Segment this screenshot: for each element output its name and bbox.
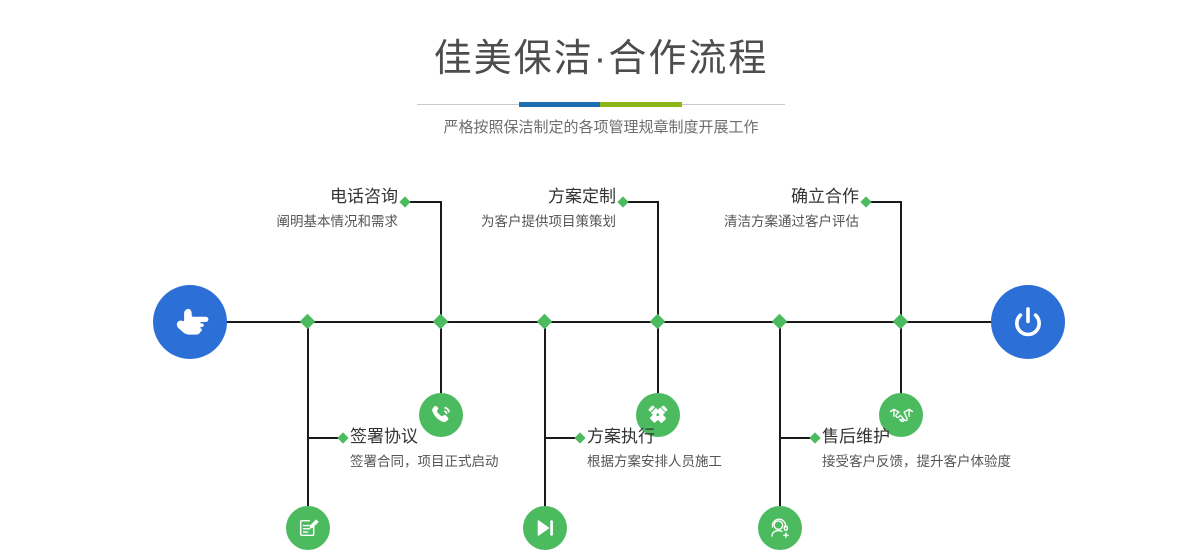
- step-desc-2: 签署合同，项目正式启动: [350, 455, 610, 469]
- end-node: [991, 285, 1065, 359]
- page-subtitle: 严格按照保洁制定的各项管理规章制度开展工作: [0, 120, 1202, 135]
- step-icon-6: [758, 506, 802, 550]
- play-forward-icon: [532, 515, 558, 541]
- step-icon-2: [286, 506, 330, 550]
- step-label-4: 方案执行 根据方案安排人员施工: [587, 428, 837, 469]
- step-title-5: 确立合作: [595, 188, 859, 205]
- stem-5: [900, 321, 902, 394]
- leader-marker-5: [860, 196, 871, 207]
- page-header: 佳美保洁·合作流程 严格按照保洁制定的各项管理规章制度开展工作: [0, 0, 1202, 135]
- leader-stem-5: [900, 201, 902, 322]
- pointing-hand-icon: [169, 301, 211, 343]
- headset-plus-icon: [767, 515, 794, 542]
- process-flow-diagram: 电话咨询 阐明基本情况和需求 签署协议 签署合同，项目正式启动: [0, 150, 1202, 502]
- flowchart-page: 佳美保洁·合作流程 严格按照保洁制定的各项管理规章制度开展工作: [0, 0, 1202, 502]
- stem-1: [440, 321, 442, 394]
- axis-marker-2: [300, 314, 316, 330]
- step-title-2: 签署协议: [350, 428, 610, 445]
- step-title-6: 售后维护: [822, 428, 1082, 445]
- page-title: 佳美保洁·合作流程: [0, 40, 1202, 78]
- step-title-4: 方案执行: [587, 428, 837, 445]
- divider-segment-green: [600, 102, 682, 107]
- axis-marker-3: [650, 314, 666, 330]
- power-button-icon: [1007, 301, 1049, 343]
- step-desc-4: 根据方案安排人员施工: [587, 455, 837, 469]
- handshake-icon: [888, 402, 915, 429]
- leader-line-5: [867, 201, 901, 203]
- document-pen-icon: [295, 515, 321, 541]
- step-desc-6: 接受客户反馈，提升客户体验度: [822, 455, 1082, 469]
- step-label-2: 签署协议 签署合同，项目正式启动: [350, 428, 610, 469]
- axis-marker-5: [893, 314, 909, 330]
- step-desc-5: 清洁方案通过客户评估: [595, 215, 859, 229]
- step-label-5: 确立合作 清洁方案通过客户评估: [595, 188, 859, 229]
- leader-marker-2: [337, 432, 348, 443]
- stem-3: [657, 321, 659, 394]
- step-label-3: 方案定制 为客户提供项目策策划: [350, 188, 616, 229]
- step-title-3: 方案定制: [350, 188, 616, 205]
- axis-marker-4: [537, 314, 553, 330]
- axis-marker-1: [433, 314, 449, 330]
- stem-4: [544, 321, 546, 507]
- pencil-ruler-icon: [645, 402, 671, 428]
- start-node: [153, 285, 227, 359]
- step-label-6: 售后维护 接受客户反馈，提升客户体验度: [822, 428, 1082, 469]
- leader-stem-2: [307, 321, 309, 438]
- step-desc-3: 为客户提供项目策策划: [350, 215, 616, 229]
- step-icon-4: [523, 506, 567, 550]
- divider-segment-blue: [519, 102, 600, 107]
- axis-marker-6: [772, 314, 788, 330]
- stem-6: [779, 321, 781, 507]
- title-divider: [417, 100, 785, 110]
- phone-call-icon: [428, 402, 454, 428]
